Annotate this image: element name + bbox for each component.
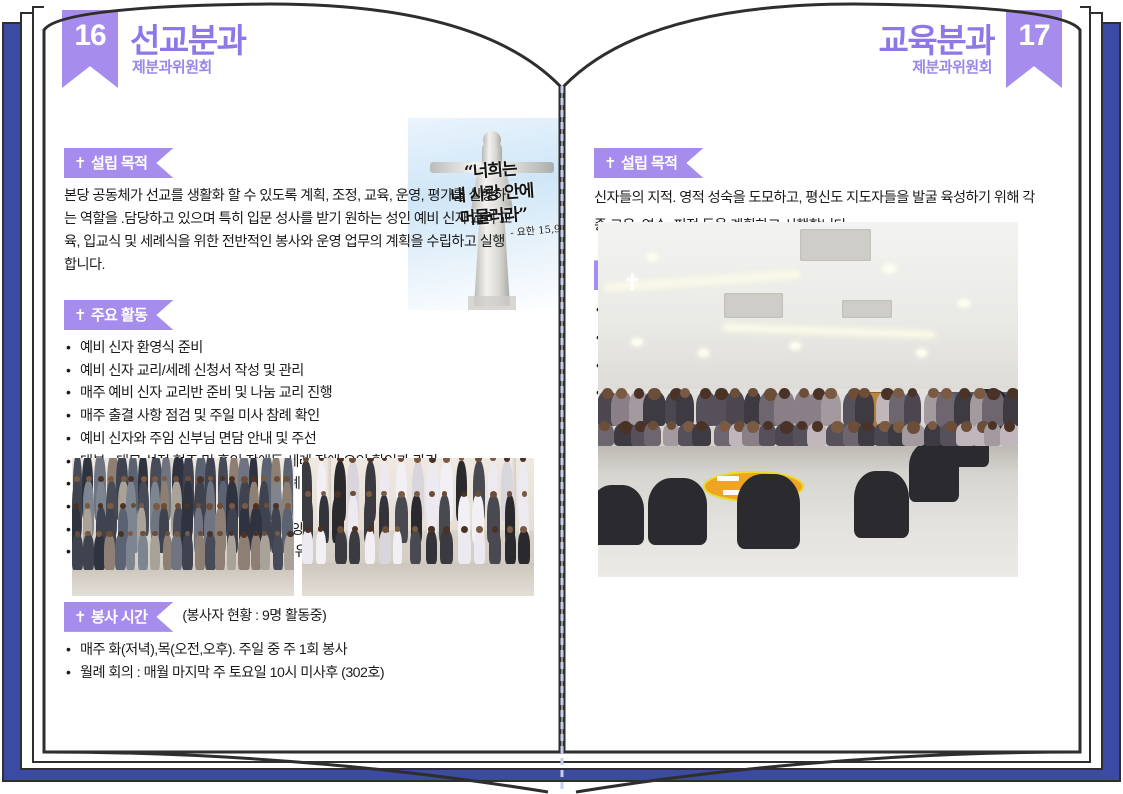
list-item: 월례 회의 : 매월 마지막 주 토요일 10시 미사후 (302호) bbox=[64, 662, 534, 685]
left-page-number-banner: 16 bbox=[62, 10, 118, 88]
photo-figure bbox=[692, 423, 711, 446]
photo-figure bbox=[316, 530, 326, 565]
list-item: 예비 신자와 주임 신부님 면담 안내 및 주선 bbox=[64, 428, 534, 451]
left-service-time-ribbon: ✝봉사 시간 bbox=[64, 602, 173, 632]
cross-icon: ✝ bbox=[74, 307, 86, 324]
list-item: 예비 신자 환영식 준비 bbox=[64, 337, 534, 360]
right-page-number-banner: 17 bbox=[1006, 10, 1062, 88]
photo-figure bbox=[227, 534, 236, 570]
photo-figure bbox=[335, 530, 347, 565]
photo-figure bbox=[902, 423, 925, 446]
cross-icon: ✝ bbox=[74, 609, 86, 626]
right-page: 17 교육분과 제분과위원회 ✝설립 목적 신자들의 지적. 영적 성숙을 도모… bbox=[562, 0, 1080, 752]
photo-figure bbox=[104, 534, 115, 570]
photo-figure bbox=[426, 530, 437, 565]
photo-figure bbox=[215, 534, 224, 570]
photo-figure bbox=[759, 423, 777, 446]
left-page-content: ✝설립 목적 본당 공동체가 선교를 생활화 할 수 있도록 계획, 조정, 교… bbox=[64, 148, 534, 690]
photo-figure bbox=[379, 530, 391, 565]
left-activities-label: 주요 활동 bbox=[91, 307, 147, 324]
photo-figure bbox=[505, 530, 516, 565]
photo-chair bbox=[598, 485, 644, 545]
photo-figure bbox=[858, 423, 876, 446]
photo-figure bbox=[205, 534, 216, 570]
left-purpose-text: 본당 공동체가 선교를 생활화 할 수 있도록 계획, 조정, 교육, 운영, … bbox=[64, 185, 516, 277]
photo-chair bbox=[648, 478, 707, 545]
list-item: 매주 화(저녁),목(오전,오후). 주일 중 주 1회 봉사 bbox=[64, 639, 534, 662]
cross-icon: ✝ bbox=[604, 155, 616, 172]
photo-figure bbox=[260, 534, 270, 570]
photo-figure bbox=[302, 530, 313, 565]
photo-figure bbox=[1000, 423, 1018, 446]
photo-figure bbox=[138, 534, 147, 570]
photo-figure bbox=[284, 534, 294, 570]
photo-chair bbox=[854, 471, 909, 538]
list-item: 매주 출결 사항 점검 및 주일 미사 참례 확인 bbox=[64, 405, 534, 428]
photo-figure bbox=[115, 534, 126, 570]
left-service-time-label: 봉사 시간 bbox=[91, 609, 147, 626]
photo-figure bbox=[644, 423, 661, 446]
photo-figure bbox=[273, 534, 283, 570]
photo-figure bbox=[440, 530, 453, 565]
list-item: 예비 신자 교리/세례 신청서 작성 및 관리 bbox=[64, 360, 534, 383]
left-department-subtitle: 제분과위원회 bbox=[132, 56, 212, 77]
photo-figure bbox=[150, 534, 160, 570]
photo-chair bbox=[737, 474, 800, 549]
photo-figure bbox=[807, 423, 827, 446]
photo-figure bbox=[984, 423, 1001, 446]
left-department-title: 선교분과 bbox=[130, 14, 245, 62]
left-service-time-section: ✝봉사 시간 (봉사자 현황 : 9명 활동중) 매주 화(저녁),목(오전,오… bbox=[64, 602, 534, 684]
photo-figure bbox=[474, 530, 486, 565]
photo-figure bbox=[182, 534, 192, 570]
photo-figure bbox=[458, 530, 470, 565]
photo-figure bbox=[72, 534, 83, 570]
left-purpose-label: 설립 목적 bbox=[91, 155, 147, 172]
photo-figure bbox=[365, 530, 375, 565]
left-page: 16 선교분과 제분과위원회 bbox=[44, 0, 562, 752]
left-service-time-list: 매주 화(저녁),목(오전,오후). 주일 중 주 1회 봉사월례 회의 : 매… bbox=[64, 639, 534, 684]
photo-figure bbox=[349, 530, 360, 565]
photo-figure bbox=[171, 534, 182, 570]
right-department-subtitle: 제분과위원회 bbox=[912, 56, 992, 77]
cross-icon: ✝ bbox=[74, 155, 86, 172]
photo-figure bbox=[489, 530, 501, 565]
right-purpose-label: 설립 목적 bbox=[621, 155, 677, 172]
wall-cross-icon: ✝ bbox=[623, 272, 641, 294]
photo-education-hall-session: ✝ bbox=[598, 222, 1018, 577]
left-volunteer-count-note: (봉사자 현황 : 9명 활동중) bbox=[182, 605, 326, 625]
photo-figure bbox=[393, 530, 402, 565]
brochure-spread: 16 선교분과 제분과위원회 bbox=[0, 0, 1123, 794]
left-purpose-ribbon: ✝설립 목적 bbox=[64, 148, 173, 178]
right-department-title: 교육분과 bbox=[879, 14, 994, 62]
left-purpose-section: ✝설립 목적 본당 공동체가 선교를 생활화 할 수 있도록 계획, 조정, 교… bbox=[64, 148, 534, 277]
photo-figure bbox=[195, 534, 205, 570]
photo-baptism-ceremony bbox=[302, 458, 534, 596]
photo-figure bbox=[126, 534, 136, 570]
photo-figure bbox=[83, 534, 93, 570]
right-purpose-ribbon: ✝설립 목적 bbox=[594, 148, 703, 178]
left-activities-ribbon: ✝주요 활동 bbox=[64, 300, 173, 330]
photo-figure bbox=[598, 423, 614, 446]
photo-figure bbox=[924, 423, 941, 446]
photo-parish-group bbox=[72, 458, 294, 596]
photo-figure bbox=[518, 530, 530, 565]
list-item: 매주 예비 신자 교리반 준비 및 나눔 교리 진행 bbox=[64, 382, 534, 405]
photo-figure bbox=[410, 530, 420, 565]
photo-figure bbox=[238, 534, 250, 570]
